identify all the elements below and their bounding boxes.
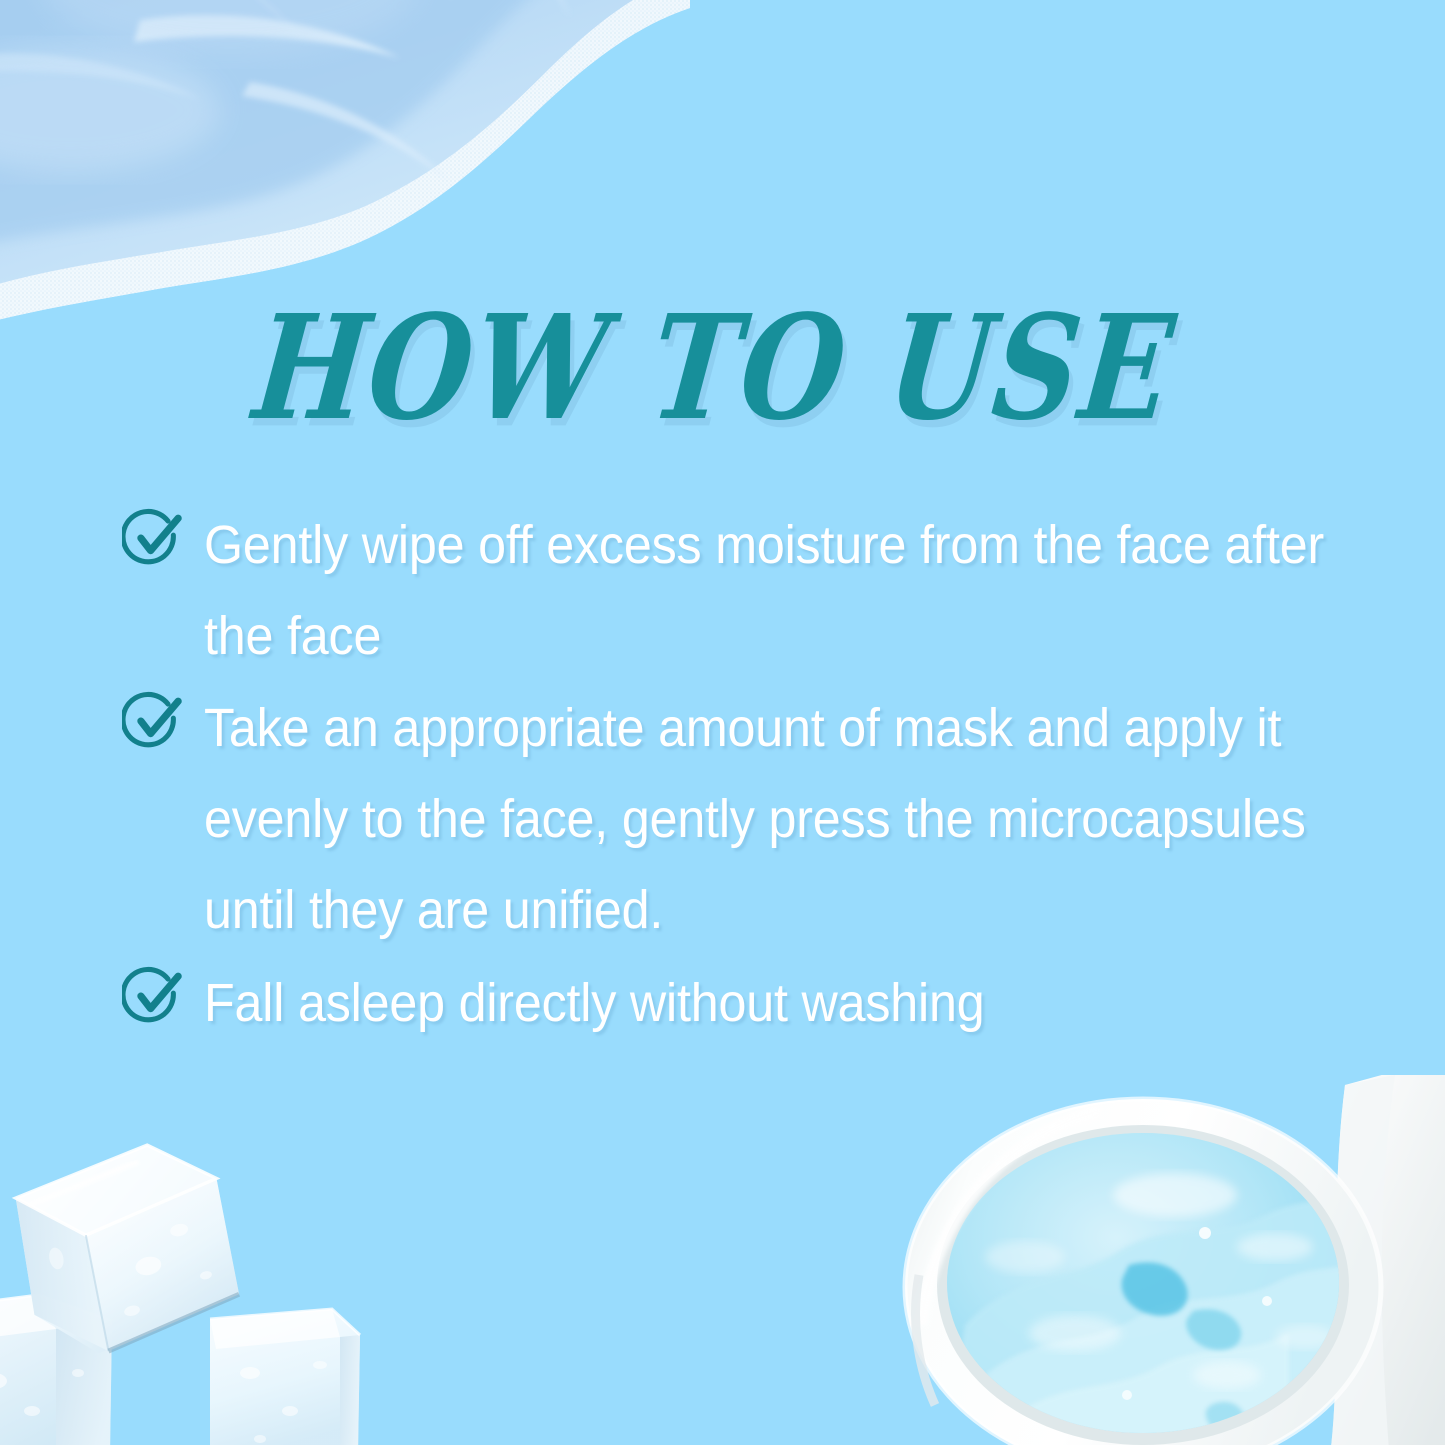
cream-jar-decoration	[875, 1075, 1445, 1445]
blue-gel-swirl-decoration	[0, 0, 690, 330]
check-circle-icon	[122, 508, 184, 570]
step-text: Gently wipe off excess moisture from the…	[204, 500, 1327, 681]
list-item: Take an appropriate amount of mask and a…	[122, 683, 1412, 955]
how-to-use-poster: HOW TO USE Gently wipe off excess moistu…	[0, 0, 1445, 1445]
check-circle-icon	[122, 966, 184, 1028]
list-item: Fall asleep directly without washing	[122, 958, 1412, 1049]
list-item: Gently wipe off excess moisture from the…	[122, 500, 1412, 681]
step-text: Take an appropriate amount of mask and a…	[204, 683, 1327, 955]
check-circle-icon	[122, 691, 184, 753]
ice-cubes-decoration	[0, 1123, 430, 1445]
page-title: HOW TO USE	[0, 296, 1445, 440]
steps-list: Gently wipe off excess moisture from the…	[122, 500, 1412, 1050]
step-text: Fall asleep directly without washing	[204, 958, 1327, 1049]
